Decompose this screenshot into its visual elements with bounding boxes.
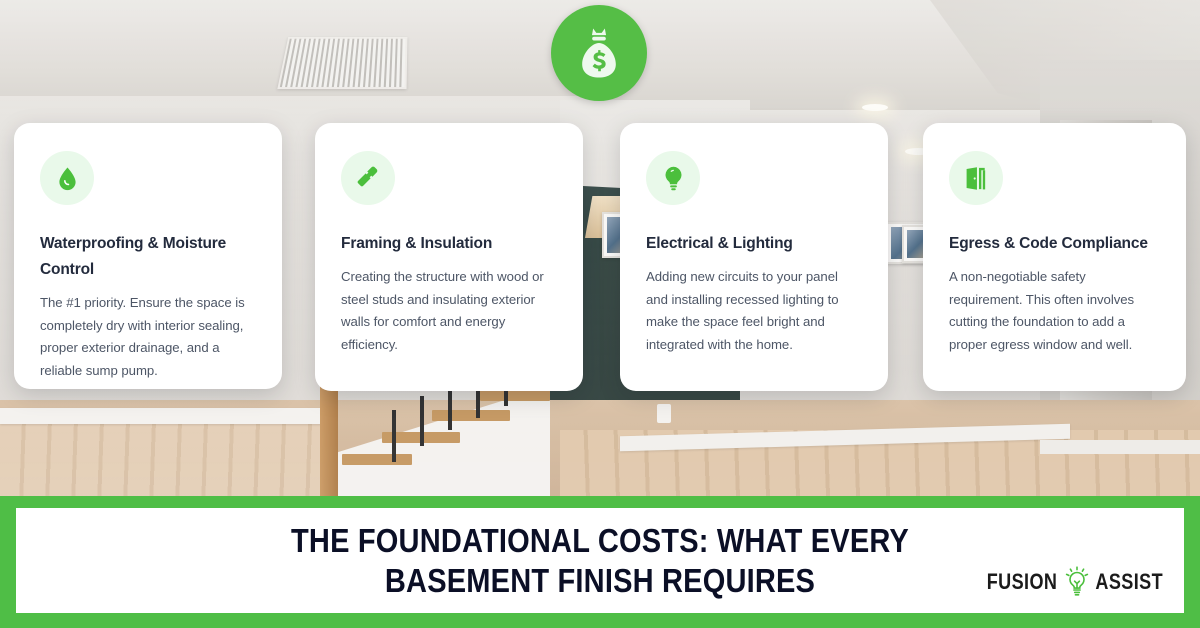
banner-inner: THE FOUNDATIONAL COSTS: WHAT EVERY BASEM… [16,508,1184,613]
logo-word-left: FUSION [987,569,1058,595]
card-row: Waterproofing & Moisture Control The #1 … [0,0,1200,500]
card-title: Waterproofing & Moisture Control [40,231,256,283]
card-title: Framing & Insulation [341,231,557,257]
open-door-icon-wrap [949,151,1003,205]
fusion-assist-logo[interactable]: FUSION ASSIST [979,565,1170,599]
lightbulb-icon [1064,565,1090,599]
infographic-banner: Waterproofing & Moisture Control The #1 … [0,0,1200,628]
card-body: Adding new circuits to your panel and in… [646,266,862,357]
card-framing[interactable]: Framing & Insulation Creating the struct… [315,123,583,391]
hammer-icon [355,164,382,193]
card-body: Creating the structure with wood or stee… [341,266,557,357]
card-egress[interactable]: Egress & Code Compliance A non-negotiabl… [923,123,1186,391]
logo-word-right: ASSIST [1095,569,1163,595]
card-electrical[interactable]: Electrical & Lighting Adding new circuit… [620,123,888,391]
lightbulb-icon-wrap [646,151,700,205]
card-title: Electrical & Lighting [646,231,862,257]
page-title: THE FOUNDATIONAL COSTS: WHAT EVERY BASEM… [235,521,965,601]
lightbulb-icon [660,164,687,193]
card-body: The #1 priority. Ensure the space is com… [40,292,256,383]
bottom-banner: THE FOUNDATIONAL COSTS: WHAT EVERY BASEM… [0,496,1200,628]
hammer-icon-wrap [341,151,395,205]
card-title: Egress & Code Compliance [949,231,1160,257]
open-door-icon [963,164,990,193]
water-droplet-icon [54,164,81,193]
water-droplet-icon-wrap [40,151,94,205]
card-body: A non-negotiable safety requirement. Thi… [949,266,1160,357]
card-waterproofing[interactable]: Waterproofing & Moisture Control The #1 … [14,123,282,389]
